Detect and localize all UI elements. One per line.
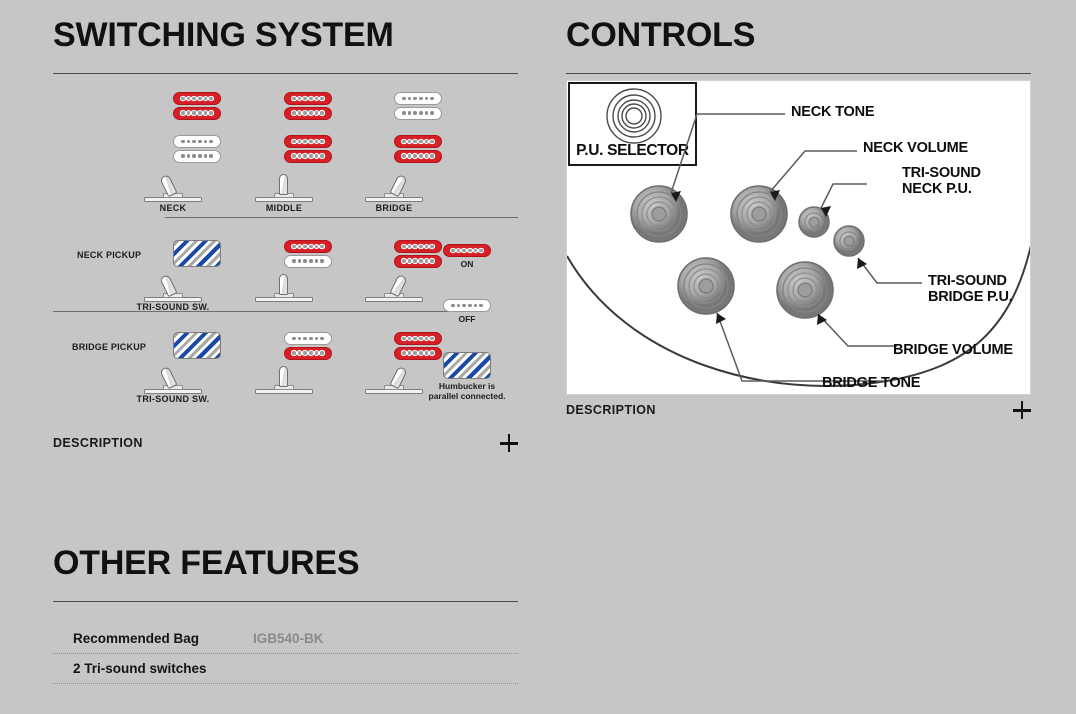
toggle-tri-sound-neck-3	[365, 272, 423, 304]
toggle-switch-neck	[144, 172, 202, 204]
control-label-bridge-volume: BRIDGE VOLUME	[893, 343, 1013, 359]
legend-parallel-line2: parallel connected.	[429, 391, 506, 401]
diagram-divider-1	[165, 217, 518, 218]
feature-name: Recommended Bag	[73, 631, 253, 646]
coil-white	[173, 150, 221, 163]
control-label-tri-sound-neck: TRI-SOUND NECK P.U.	[902, 166, 981, 198]
row-label-neck-pickup: NECK PICKUP	[77, 250, 141, 260]
control-label-neck-volume: NECK VOLUME	[863, 141, 968, 157]
table-row: Recommended Bag IGB540-BK	[53, 624, 518, 654]
switch-caption-bridge: BRIDGE	[365, 203, 423, 213]
coil-red	[173, 92, 221, 105]
coil-white	[394, 107, 442, 120]
legend-label-on: ON	[443, 260, 491, 270]
control-label-neck-tone: NECK TONE	[791, 105, 874, 121]
legend-label-parallel: Humbucker is parallel connected.	[415, 382, 519, 402]
coil-red	[284, 92, 332, 105]
tri-sound-neck-line2: NECK P.U.	[902, 181, 972, 197]
coil-red	[394, 255, 442, 268]
divider-switching	[53, 73, 518, 74]
description-toggle-controls[interactable]: DESCRIPTION	[566, 395, 1031, 423]
switch-caption-neck: NECK	[144, 203, 202, 213]
switch-caption-middle: MIDDLE	[255, 203, 313, 213]
description-label-switching: DESCRIPTION	[53, 436, 143, 450]
coil-white	[443, 299, 491, 312]
legend-pickup-parallel	[443, 352, 491, 379]
coil-red	[284, 347, 332, 360]
tri-sound-bridge-line2: BRIDGE P.U.	[928, 289, 1013, 305]
coil-red	[173, 107, 221, 120]
control-label-tri-sound-bridge: TRI-SOUND BRIDGE P.U.	[928, 274, 1013, 306]
toggle-tri-sound-neck-2	[255, 272, 313, 304]
pickup-middle-top	[284, 92, 332, 120]
coil-red	[394, 150, 442, 163]
coil-red	[284, 135, 332, 148]
knob-neck-volume	[731, 186, 787, 242]
pickup-bridge-tri-full	[394, 332, 442, 360]
pickup-middle-bottom	[284, 135, 332, 163]
page-title-switching: SWITCHING SYSTEM	[53, 0, 518, 52]
other-features-section: OTHER FEATURES Recommended Bag IGB540-BK…	[53, 528, 518, 684]
coil-red	[394, 332, 442, 345]
controls-section: CONTROLS P.U. SELECTOR	[566, 0, 1031, 423]
other-features-table: Recommended Bag IGB540-BK 2 Tri-sound sw…	[53, 624, 518, 684]
switch-caption-tri-sound-bridge: TRI-SOUND SW.	[135, 394, 211, 404]
coil-red	[394, 240, 442, 253]
coil-white	[173, 135, 221, 148]
legend-parallel-line1: Humbucker is	[439, 381, 495, 391]
coil-white	[394, 92, 442, 105]
pickup-neck-tri-striped	[173, 240, 221, 267]
coil-white	[284, 255, 332, 268]
toggle-switch-middle	[255, 172, 313, 204]
knob-bridge-tone	[678, 258, 734, 314]
control-label-bridge-tone: BRIDGE TONE	[822, 376, 920, 392]
pickup-bridge-tri-striped	[173, 332, 221, 359]
plus-icon[interactable]	[500, 434, 518, 452]
pickup-neck-top	[173, 92, 221, 120]
pickup-neck-bottom	[173, 135, 221, 163]
toggle-tri-sound-bridge-2	[255, 364, 313, 396]
description-toggle-switching[interactable]: DESCRIPTION	[53, 428, 518, 456]
divider-controls	[566, 73, 1031, 74]
page-title-other-features: OTHER FEATURES	[53, 528, 518, 580]
tri-sound-bridge-line1: TRI-SOUND	[928, 273, 1007, 289]
coil-red	[284, 107, 332, 120]
feature-name: 2 Tri-sound switches	[73, 661, 207, 676]
toggle-tri-sound-neck-1	[144, 272, 202, 304]
coil-red	[394, 347, 442, 360]
knob-bridge-volume	[777, 262, 833, 318]
row-label-bridge-pickup: BRIDGE PICKUP	[72, 342, 146, 352]
coil-red	[284, 240, 332, 253]
pickup-bridge-top	[394, 92, 442, 120]
toggle-switch-bridge	[365, 172, 423, 204]
switch-caption-tri-sound-neck: TRI-SOUND SW.	[135, 302, 211, 312]
pickup-neck-tri-split	[284, 240, 332, 268]
controls-diagram: P.U. SELECTOR	[566, 80, 1031, 395]
pickup-bridge-bottom	[394, 135, 442, 163]
knob-tri-sound-bridge	[834, 226, 864, 256]
diagram-divider-2	[53, 311, 465, 312]
pickup-neck-tri-full	[394, 240, 442, 268]
legend-label-off: OFF	[443, 315, 491, 325]
page-title-controls: CONTROLS	[566, 0, 1031, 52]
plus-icon[interactable]	[1013, 401, 1031, 419]
switching-system-section: SWITCHING SYSTEM	[53, 0, 518, 456]
product-spec-page: SWITCHING SYSTEM	[0, 0, 1076, 714]
toggle-tri-sound-bridge-1	[144, 364, 202, 396]
pickup-bridge-tri-split	[284, 332, 332, 360]
coil-red	[284, 150, 332, 163]
legend-pickup-on	[443, 244, 491, 257]
description-label-controls: DESCRIPTION	[566, 403, 656, 417]
switching-diagram: NECK MIDDLE	[53, 80, 518, 428]
feature-value: IGB540-BK	[253, 631, 324, 646]
table-row: 2 Tri-sound switches	[53, 654, 518, 684]
legend-pickup-off	[443, 299, 491, 312]
coil-white	[284, 332, 332, 345]
tri-sound-neck-line1: TRI-SOUND	[902, 165, 981, 181]
coil-red	[394, 135, 442, 148]
divider-other-features	[53, 601, 518, 602]
coil-red	[443, 244, 491, 257]
